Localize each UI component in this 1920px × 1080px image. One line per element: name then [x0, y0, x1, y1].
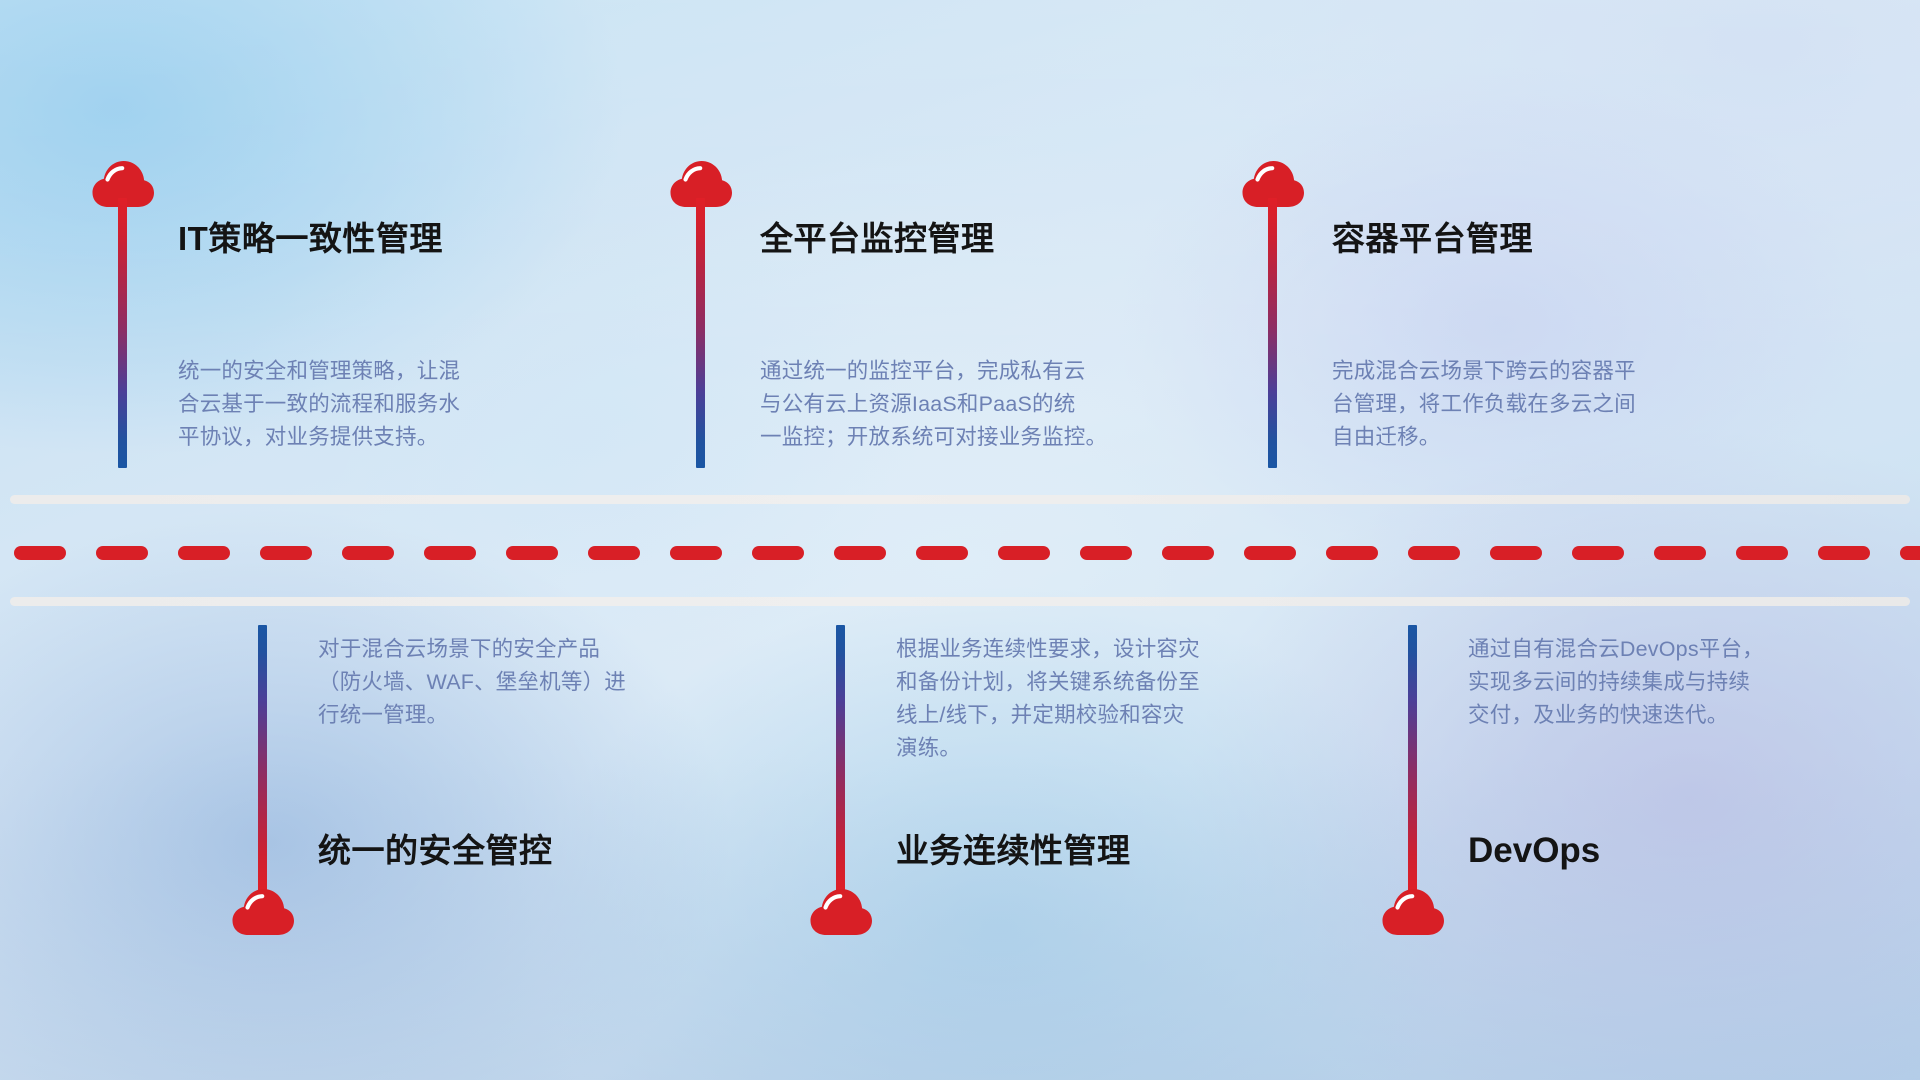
- bottom-item-1-description: 对于混合云场景下的安全产品 （防火墙、WAF、堡垒机等）进 行统一管理。: [318, 633, 626, 732]
- bottom-item-3-description: 通过自有混合云DevOps平台， 实现多云间的持续集成与持续 交付，及业务的快速…: [1468, 633, 1764, 732]
- top-item-1-title: IT策略一致性管理: [178, 222, 443, 255]
- cloud-icon: [1381, 888, 1445, 936]
- bottom-item-2-title: 业务连续性管理: [896, 834, 1131, 867]
- top-item-1-description: 统一的安全和管理策略，让混 合云基于一致的流程和服务水 平协议，对业务提供支持。: [178, 355, 460, 454]
- cloud-icon: [231, 888, 295, 936]
- divider-line-bottom: [10, 597, 1910, 606]
- dashed-timeline: [0, 546, 1920, 560]
- infographic-stage: IT策略一致性管理 统一的安全和管理策略，让混 合云基于一致的流程和服务水 平协…: [0, 0, 1920, 1080]
- divider-line-top: [10, 495, 1910, 504]
- bottom-item-3-title: DevOps: [1468, 833, 1600, 868]
- top-item-3-description: 完成混合云场景下跨云的容器平 台管理，将工作负载在多云之间 自由迁移。: [1332, 355, 1636, 454]
- bottom-item-1-title: 统一的安全管控: [318, 834, 553, 867]
- top-item-3-title: 容器平台管理: [1332, 222, 1533, 255]
- top-item-2-title: 全平台监控管理: [760, 222, 995, 255]
- bottom-item-2-description: 根据业务连续性要求，设计容灾 和备份计划，将关键系统备份至 线上/线下，并定期校…: [896, 633, 1200, 765]
- top-item-2-description: 通过统一的监控平台，完成私有云 与公有云上资源IaaS和PaaS的统 一监控；开…: [760, 355, 1107, 454]
- cloud-icon: [809, 888, 873, 936]
